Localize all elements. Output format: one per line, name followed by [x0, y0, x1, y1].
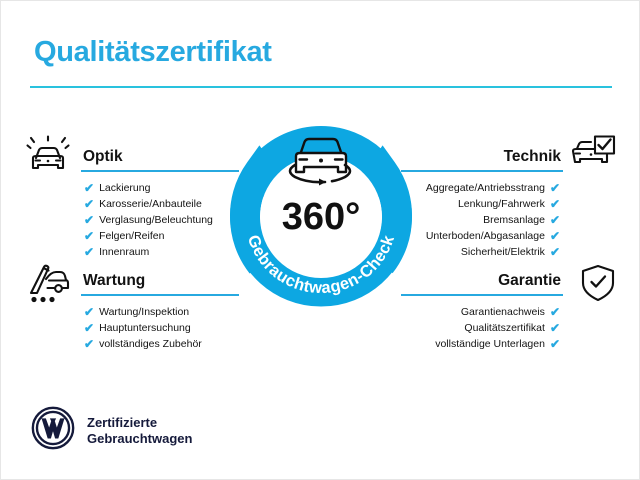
list-item: Lenkung/Fahrwerk✔ [401, 196, 563, 212]
list-item-label: Unterboden/Abgasanlage [426, 228, 545, 244]
section-technik-title: Technik [401, 147, 563, 167]
check-icon: ✔ [550, 182, 560, 194]
footer-line-1: Zertifizierte [87, 415, 192, 431]
list-item: ✔Wartung/Inspektion [81, 304, 239, 320]
car-service-ramp-icon [25, 263, 71, 305]
car-checkbox-icon [571, 135, 617, 177]
check-icon: ✔ [84, 306, 94, 318]
section-optik-divider [81, 170, 239, 172]
section-garantie: Garantie Garantienachweis✔ Qualitätszert… [401, 271, 563, 352]
check-icon: ✔ [550, 198, 560, 210]
list-item-label: Felgen/Reifen [99, 228, 164, 244]
list-item: Unterboden/Abgasanlage✔ [401, 228, 563, 244]
list-item: Garantienachweis✔ [401, 304, 563, 320]
list-item-label: Karosserie/Anbauteile [99, 196, 202, 212]
section-wartung: Wartung ✔Wartung/Inspektion ✔Hauptunters… [81, 271, 239, 352]
section-wartung-title: Wartung [81, 271, 239, 291]
title-divider [30, 86, 612, 88]
list-item-label: Lenkung/Fahrwerk [458, 196, 545, 212]
section-wartung-list: ✔Wartung/Inspektion ✔Hauptuntersuchung ✔… [81, 304, 239, 352]
section-garantie-title: Garantie [401, 271, 563, 291]
check-icon: ✔ [84, 246, 94, 258]
list-item: Bremsanlage✔ [401, 212, 563, 228]
section-technik-list: Aggregate/Antriebsstrang✔ Lenkung/Fahrwe… [401, 180, 563, 260]
section-optik-header: Optik [81, 147, 239, 173]
list-item-label: vollständiges Zubehör [99, 336, 202, 352]
footer-brand: Zertifizierte Gebrauchtwagen [31, 406, 192, 455]
badge-center-label: 360° [282, 196, 361, 238]
section-garantie-list: Garantienachweis✔ Qualitätszertifikat✔ v… [401, 304, 563, 352]
list-item-label: Bremsanlage [483, 212, 545, 228]
list-item-label: Aggregate/Antriebsstrang [426, 180, 545, 196]
list-item-label: vollständige Unterlagen [435, 336, 545, 352]
section-optik-list: ✔Lackierung ✔Karosserie/Anbauteile ✔Verg… [81, 180, 239, 260]
check-icon: ✔ [84, 182, 94, 194]
section-garantie-divider [401, 294, 563, 296]
check-icon: ✔ [550, 246, 560, 258]
check-icon: ✔ [550, 230, 560, 242]
check-icon: ✔ [84, 198, 94, 210]
list-item: ✔Lackierung [81, 180, 239, 196]
check-icon: ✔ [550, 322, 560, 334]
check-icon: ✔ [84, 322, 94, 334]
certificate-page: Qualitätszertifikat [0, 0, 640, 480]
list-item: ✔Felgen/Reifen [81, 228, 239, 244]
list-item: ✔Verglasung/Beleuchtung [81, 212, 239, 228]
list-item-label: Lackierung [99, 180, 150, 196]
list-item: ✔vollständiges Zubehör [81, 336, 239, 352]
list-item-label: Sicherheit/Elektrik [461, 244, 545, 260]
car-shine-icon [25, 135, 71, 177]
list-item-label: Hauptuntersuchung [99, 320, 191, 336]
list-item-label: Qualitätszertifikat [464, 320, 545, 336]
check-icon: ✔ [550, 214, 560, 226]
list-item: ✔Karosserie/Anbauteile [81, 196, 239, 212]
section-technik: Technik Aggregate/Antriebsstrang✔ Lenkun… [401, 147, 563, 260]
shield-check-icon [575, 263, 621, 305]
list-item-label: Verglasung/Beleuchtung [99, 212, 213, 228]
list-item: ✔Innenraum [81, 244, 239, 260]
section-technik-divider [401, 170, 563, 172]
section-technik-header: Technik [401, 147, 563, 173]
section-wartung-divider [81, 294, 239, 296]
list-item-label: Garantienachweis [461, 304, 545, 320]
section-optik: Optik ✔Lackierung ✔Karosserie/Anbauteile… [81, 147, 239, 260]
list-item: Sicherheit/Elektrik✔ [401, 244, 563, 260]
list-item: ✔Hauptuntersuchung [81, 320, 239, 336]
check-icon: ✔ [550, 306, 560, 318]
check-icon: ✔ [550, 338, 560, 350]
list-item: vollständige Unterlagen✔ [401, 336, 563, 352]
check-icon: ✔ [84, 338, 94, 350]
list-item: Aggregate/Antriebsstrang✔ [401, 180, 563, 196]
badge-360-gebrauchtwagen-check: 360° Gebrauchtwagen-Check [225, 113, 417, 313]
footer-line-2: Gebrauchtwagen [87, 431, 192, 447]
vw-roundel-logo [31, 406, 75, 455]
list-item-label: Innenraum [99, 244, 149, 260]
section-optik-title: Optik [81, 147, 239, 167]
check-icon: ✔ [84, 230, 94, 242]
section-wartung-header: Wartung [81, 271, 239, 297]
page-title: Qualitätszertifikat [34, 37, 272, 69]
list-item: Qualitätszertifikat✔ [401, 320, 563, 336]
footer-text: Zertifizierte Gebrauchtwagen [87, 415, 192, 447]
list-item-label: Wartung/Inspektion [99, 304, 189, 320]
check-icon: ✔ [84, 214, 94, 226]
section-garantie-header: Garantie [401, 271, 563, 297]
